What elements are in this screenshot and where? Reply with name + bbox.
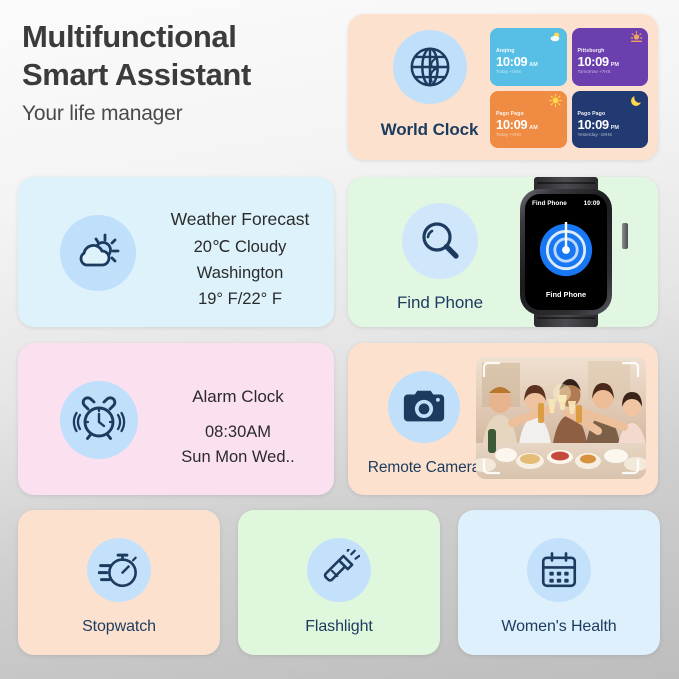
weather-condition: 20℃ Cloudy — [150, 237, 330, 257]
card-alarm-clock[interactable]: Alarm Clock 08:30AM Sun Mon Wed.. — [18, 343, 334, 495]
magnifier-icon — [402, 203, 478, 279]
find-phone-label: Find Phone — [370, 293, 510, 313]
watch-status-bar: Find Phone 10:09 — [532, 200, 600, 207]
clock-tile-sub: Today +0HS — [496, 69, 521, 74]
smartwatch-preview: Find Phone 10:09 Find Phone — [508, 177, 633, 327]
card-flashlight[interactable]: Flashlight — [238, 510, 440, 655]
flashlight-label: Flashlight — [238, 618, 440, 636]
weather-title: Weather Forecast — [150, 209, 330, 230]
card-world-clock[interactable]: World Clock Anqing 10:09 AM Today +0HS — [348, 14, 658, 160]
clock-tile-sub: Yesterday -19HS — [578, 132, 613, 137]
alarm-text-block: Alarm Clock 08:30AM Sun Mon Wed.. — [148, 387, 328, 467]
page-title-line2: Smart Assistant — [22, 56, 342, 94]
watch-status-time: 10:09 — [584, 200, 600, 207]
stopwatch-icon — [87, 538, 151, 602]
clock-tile-time: 10:09 — [496, 117, 527, 132]
clock-tile[interactable]: Pago Pago 10:09 AM Today +0HS — [490, 91, 567, 149]
clock-tile-meridiem: PM — [611, 125, 619, 131]
watch-footer-label: Find Phone — [525, 290, 607, 299]
page-subtitle: Your life manager — [22, 102, 342, 126]
watch-body: Find Phone 10:09 Find Phone — [520, 189, 612, 315]
weather-text-block: Weather Forecast 20℃ Cloudy Washington 1… — [150, 209, 330, 309]
clock-tile-sub: Tomorrow +7HS — [578, 69, 611, 74]
womens-health-label: Women's Health — [458, 618, 660, 636]
calendar-icon — [527, 538, 591, 602]
sun-behind-cloud-icon — [60, 215, 136, 291]
remote-camera-photo — [476, 357, 646, 479]
card-find-phone[interactable]: Find Phone Find Phone 10:09 Find Phone — [348, 177, 658, 327]
clock-tile-time: 10:09 — [578, 117, 609, 132]
sunset-icon — [630, 31, 643, 44]
alarm-clock-icon — [60, 381, 138, 459]
watch-crown[interactable] — [622, 223, 628, 249]
radar-icon — [538, 222, 594, 278]
flashlight-icon — [307, 538, 371, 602]
watch-screen[interactable]: Find Phone 10:09 Find Phone — [525, 194, 607, 310]
remote-camera-feature: Remote Camera — [354, 371, 494, 477]
world-clock-feature: World Clock — [362, 30, 497, 140]
alarm-time: 08:30AM — [148, 423, 328, 442]
sun-icon — [549, 94, 562, 107]
card-weather-forecast[interactable]: Weather Forecast 20℃ Cloudy Washington 1… — [18, 177, 334, 327]
card-remote-camera[interactable]: Remote Camera — [348, 343, 658, 495]
world-clock-tiles: Anqing 10:09 AM Today +0HS Pittsburgh 10… — [490, 28, 648, 148]
clock-tile-meridiem: PM — [611, 62, 619, 68]
camera-icon — [388, 371, 460, 443]
world-clock-label: World Clock — [362, 120, 497, 140]
clock-tile-meridiem: AM — [529, 62, 538, 68]
clock-tile[interactable]: Pittsburgh 10:09 PM Tomorrow +7HS — [572, 28, 649, 86]
clock-tile-meridiem: AM — [529, 125, 538, 131]
page-header: Multifunctional Smart Assistant Your lif… — [22, 18, 342, 126]
card-womens-health[interactable]: Women's Health — [458, 510, 660, 655]
remote-camera-label: Remote Camera — [354, 459, 494, 477]
find-phone-feature: Find Phone — [370, 203, 510, 313]
stopwatch-label: Stopwatch — [18, 618, 220, 636]
clock-tile[interactable]: Pago Pago 10:09 PM Yesterday -19HS — [572, 91, 649, 149]
globe-icon — [393, 30, 467, 104]
weather-range: 19° F/22° F — [150, 290, 330, 309]
clock-tile[interactable]: Anqing 10:09 AM Today +0HS — [490, 28, 567, 86]
page-title-line1: Multifunctional — [22, 18, 342, 56]
alarm-title: Alarm Clock — [148, 387, 328, 407]
alarm-days: Sun Mon Wed.. — [148, 448, 328, 467]
card-stopwatch[interactable]: Stopwatch — [18, 510, 220, 655]
clock-tile-time: 10:09 — [578, 54, 609, 69]
clock-tile-sub: Today +0HS — [496, 132, 521, 137]
moon-icon — [630, 94, 643, 107]
weather-location: Washington — [150, 264, 330, 283]
sun-behind-cloud-icon — [549, 31, 562, 44]
watch-status-title: Find Phone — [532, 200, 567, 207]
clock-tile-time: 10:09 — [496, 54, 527, 69]
